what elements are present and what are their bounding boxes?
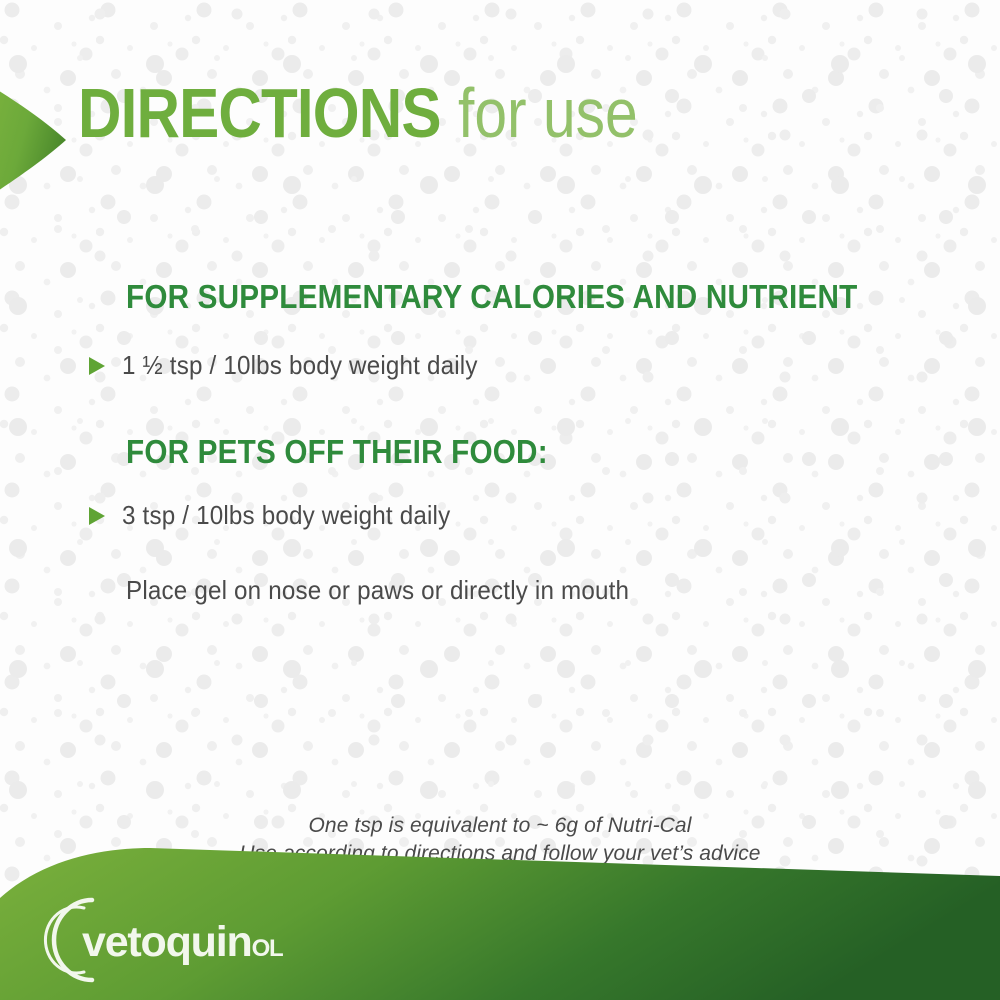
footnote-line-1: One tsp is equivalent to ~ 6g of Nutri-C… <box>0 812 1000 840</box>
list-item-label: 1 ½ tsp / 10lbs body weight daily <box>122 350 478 381</box>
triangle-right-bullet-icon <box>88 356 106 376</box>
page-title-strong: DIRECTIONS <box>78 78 441 148</box>
logo-wordmark: vetoquinOL <box>82 918 283 967</box>
section-heading-supplementary-calories: FOR SUPPLEMENTARY CALORIES AND NUTRIENT <box>126 278 857 316</box>
list-item: 1 ½ tsp / 10lbs body weight daily <box>88 350 504 381</box>
triangle-right-bullet-icon <box>88 506 106 526</box>
page-title-light: for use <box>458 78 638 148</box>
plain-instruction-label: Place gel on nose or paws or directly in… <box>126 575 629 606</box>
vetoquinol-logo: vetoquinOL <box>22 888 292 992</box>
list-item-label: 3 tsp / 10lbs body weight daily <box>122 500 450 531</box>
section-heading-pets-off-food: FOR PETS OFF THEIR FOOD: <box>126 433 548 471</box>
logo-wordmark-head: vetoquin <box>82 918 252 966</box>
right-arrow-marker-icon <box>0 78 76 204</box>
plain-instruction-line: Place gel on nose or paws or directly in… <box>126 575 667 606</box>
product-directions-panel: DIRECTIONSfor use FOR SUPPLEMENTARY CALO… <box>0 0 1000 1000</box>
list-item: 3 tsp / 10lbs body weight daily <box>88 500 475 531</box>
page-title: DIRECTIONSfor use <box>78 78 672 148</box>
logo-wordmark-tail: OL <box>252 926 283 964</box>
